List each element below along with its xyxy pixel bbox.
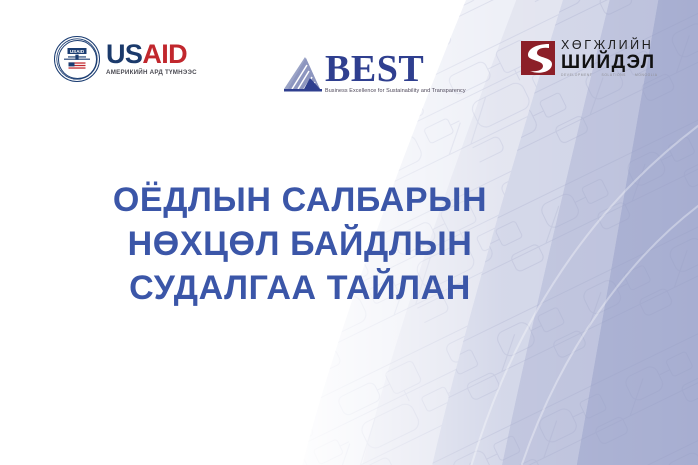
microtext-3: MONGOLIA [635, 74, 658, 77]
best-fanned-pages-icon [278, 52, 324, 94]
report-cover-page: USAID [0, 0, 698, 465]
red-square-s-swoosh-icon [519, 38, 557, 78]
logo-hogjliin-shiidel: ХӨГЖЛИЙН ШИЙДЭЛ DEVELOPMENT SOLUTIONS MO… [519, 38, 658, 78]
microtext-2: SOLUTIONS [602, 74, 626, 77]
report-title-line-1: ОЁДЛЫН САЛБАРЫН [0, 178, 600, 222]
partner-logo-row: USAID [0, 0, 698, 110]
report-title: ОЁДЛЫН САЛБАРЫН НӨХЦӨЛ БАЙДЛЫН СУДАЛГАА … [0, 178, 600, 311]
usaid-tagline: АМЕРИКИЙН АРД ТҮМНЭЭС [106, 70, 197, 76]
microtext-1: DEVELOPMENT [561, 74, 593, 77]
svg-text:USAID: USAID [70, 49, 85, 54]
best-wordmark: BEST [325, 52, 466, 87]
usaid-seal-icon: USAID [54, 36, 100, 82]
usaid-wordmark-us: US [106, 39, 142, 69]
hogjliin-shiidel-line2: ШИЙДЭЛ [561, 53, 658, 72]
report-title-line-3: СУДАЛГАА ТАЙЛАН [0, 266, 600, 310]
logo-best: BEST Business Excellence for Sustainabil… [278, 52, 466, 94]
usaid-wordmark: USAID [106, 41, 197, 68]
best-tagline: Business Excellence for Sustainability a… [325, 88, 466, 94]
report-title-line-2: НӨХЦӨЛ БАЙДЛЫН [0, 222, 600, 266]
hogjliin-shiidel-line1: ХӨГЖЛИЙН [561, 39, 658, 52]
logo-usaid: USAID [54, 36, 197, 82]
hogjliin-shiidel-microtext: DEVELOPMENT SOLUTIONS MONGOLIA [561, 74, 658, 77]
usaid-wordmark-aid: AID [142, 39, 187, 69]
